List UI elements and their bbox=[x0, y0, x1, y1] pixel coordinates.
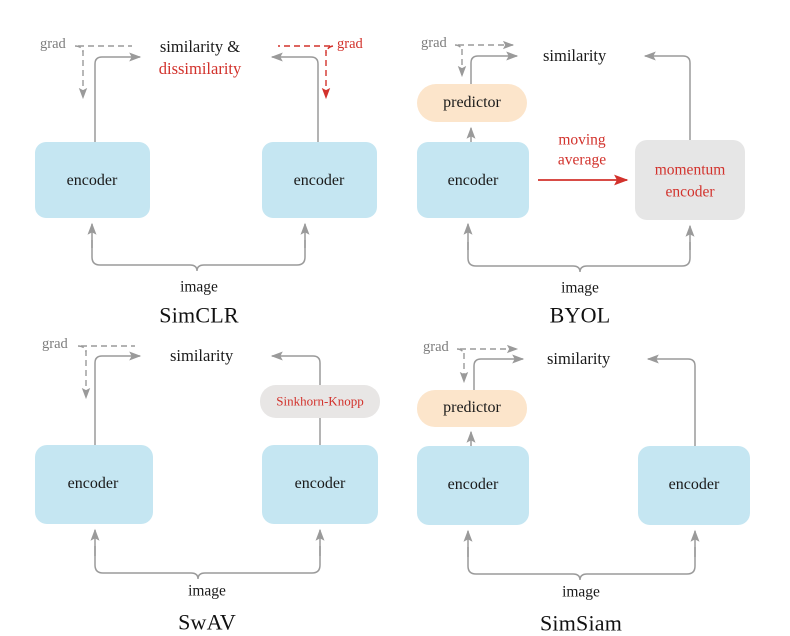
forward-arrow-left bbox=[471, 56, 517, 84]
encoder-label-left: encoder bbox=[448, 476, 499, 494]
objective-label-dissimilarity: dissimilarity bbox=[159, 60, 242, 78]
grad-label-left: grad bbox=[421, 35, 447, 51]
grad-dashed-corner bbox=[455, 45, 462, 51]
predictor-label: predictor bbox=[443, 94, 501, 112]
panel-simsiam: grad similarity predictor encoder encode… bbox=[395, 318, 790, 636]
grad-label-left: grad bbox=[40, 36, 66, 52]
image-brace bbox=[468, 547, 695, 580]
momentum-encoder-box bbox=[635, 140, 745, 220]
image-brace bbox=[95, 546, 320, 579]
image-brace bbox=[468, 242, 690, 272]
moving-average-label-line2: average bbox=[558, 151, 606, 168]
image-label: image bbox=[562, 583, 600, 600]
objective-label-similarity: similarity & bbox=[160, 38, 240, 56]
objective-label-similarity: similarity bbox=[547, 350, 610, 368]
forward-arrow-right bbox=[645, 56, 690, 140]
objective-label-similarity: similarity bbox=[543, 47, 606, 65]
grad-dashed-right-corner bbox=[326, 46, 333, 53]
panel-simclr: grad grad similarity & dissimilarity enc… bbox=[0, 0, 395, 318]
predictor-label: predictor bbox=[443, 399, 501, 417]
objective-label-similarity: similarity bbox=[170, 347, 233, 365]
image-label: image bbox=[561, 279, 599, 296]
self-supervised-methods-figure: grad grad similarity & dissimilarity enc… bbox=[0, 0, 790, 636]
forward-arrow-left bbox=[95, 356, 140, 445]
forward-arrow-left bbox=[474, 359, 523, 390]
panel-swav: grad similarity Sinkhorn-Knopp encoder e… bbox=[0, 318, 395, 636]
momentum-encoder-label-line1: momentum bbox=[655, 161, 726, 178]
forward-arrow-right bbox=[272, 57, 318, 142]
encoder-label-right: encoder bbox=[294, 172, 345, 190]
image-label: image bbox=[180, 278, 218, 295]
grad-label-left: grad bbox=[423, 339, 449, 355]
grad-dashed-corner bbox=[78, 346, 86, 352]
panel-title-simsiam: SimSiam bbox=[540, 612, 622, 636]
momentum-encoder-label-line2: encoder bbox=[665, 183, 714, 200]
forward-arrow-left bbox=[95, 57, 140, 142]
panel-byol: grad similarity predictor encoder moving… bbox=[395, 0, 790, 318]
forward-arrow-right bbox=[272, 356, 320, 385]
encoder-label-right: encoder bbox=[295, 475, 346, 493]
image-label: image bbox=[188, 582, 226, 599]
image-brace bbox=[92, 240, 305, 271]
panel-title-swav: SwAV bbox=[178, 611, 236, 636]
grad-label-left: grad bbox=[42, 336, 68, 352]
grad-dashed-left-top bbox=[75, 46, 83, 52]
moving-average-label-line1: moving bbox=[558, 131, 605, 148]
encoder-label-left: encoder bbox=[448, 172, 499, 190]
encoder-label-left: encoder bbox=[67, 172, 118, 190]
grad-dashed-corner bbox=[457, 349, 464, 355]
encoder-label-right: encoder bbox=[669, 476, 720, 494]
grad-label-right: grad bbox=[337, 36, 363, 52]
sinkhorn-knopp-label: Sinkhorn-Knopp bbox=[276, 395, 363, 410]
encoder-label-left: encoder bbox=[68, 475, 119, 493]
forward-arrow-right bbox=[648, 359, 695, 446]
